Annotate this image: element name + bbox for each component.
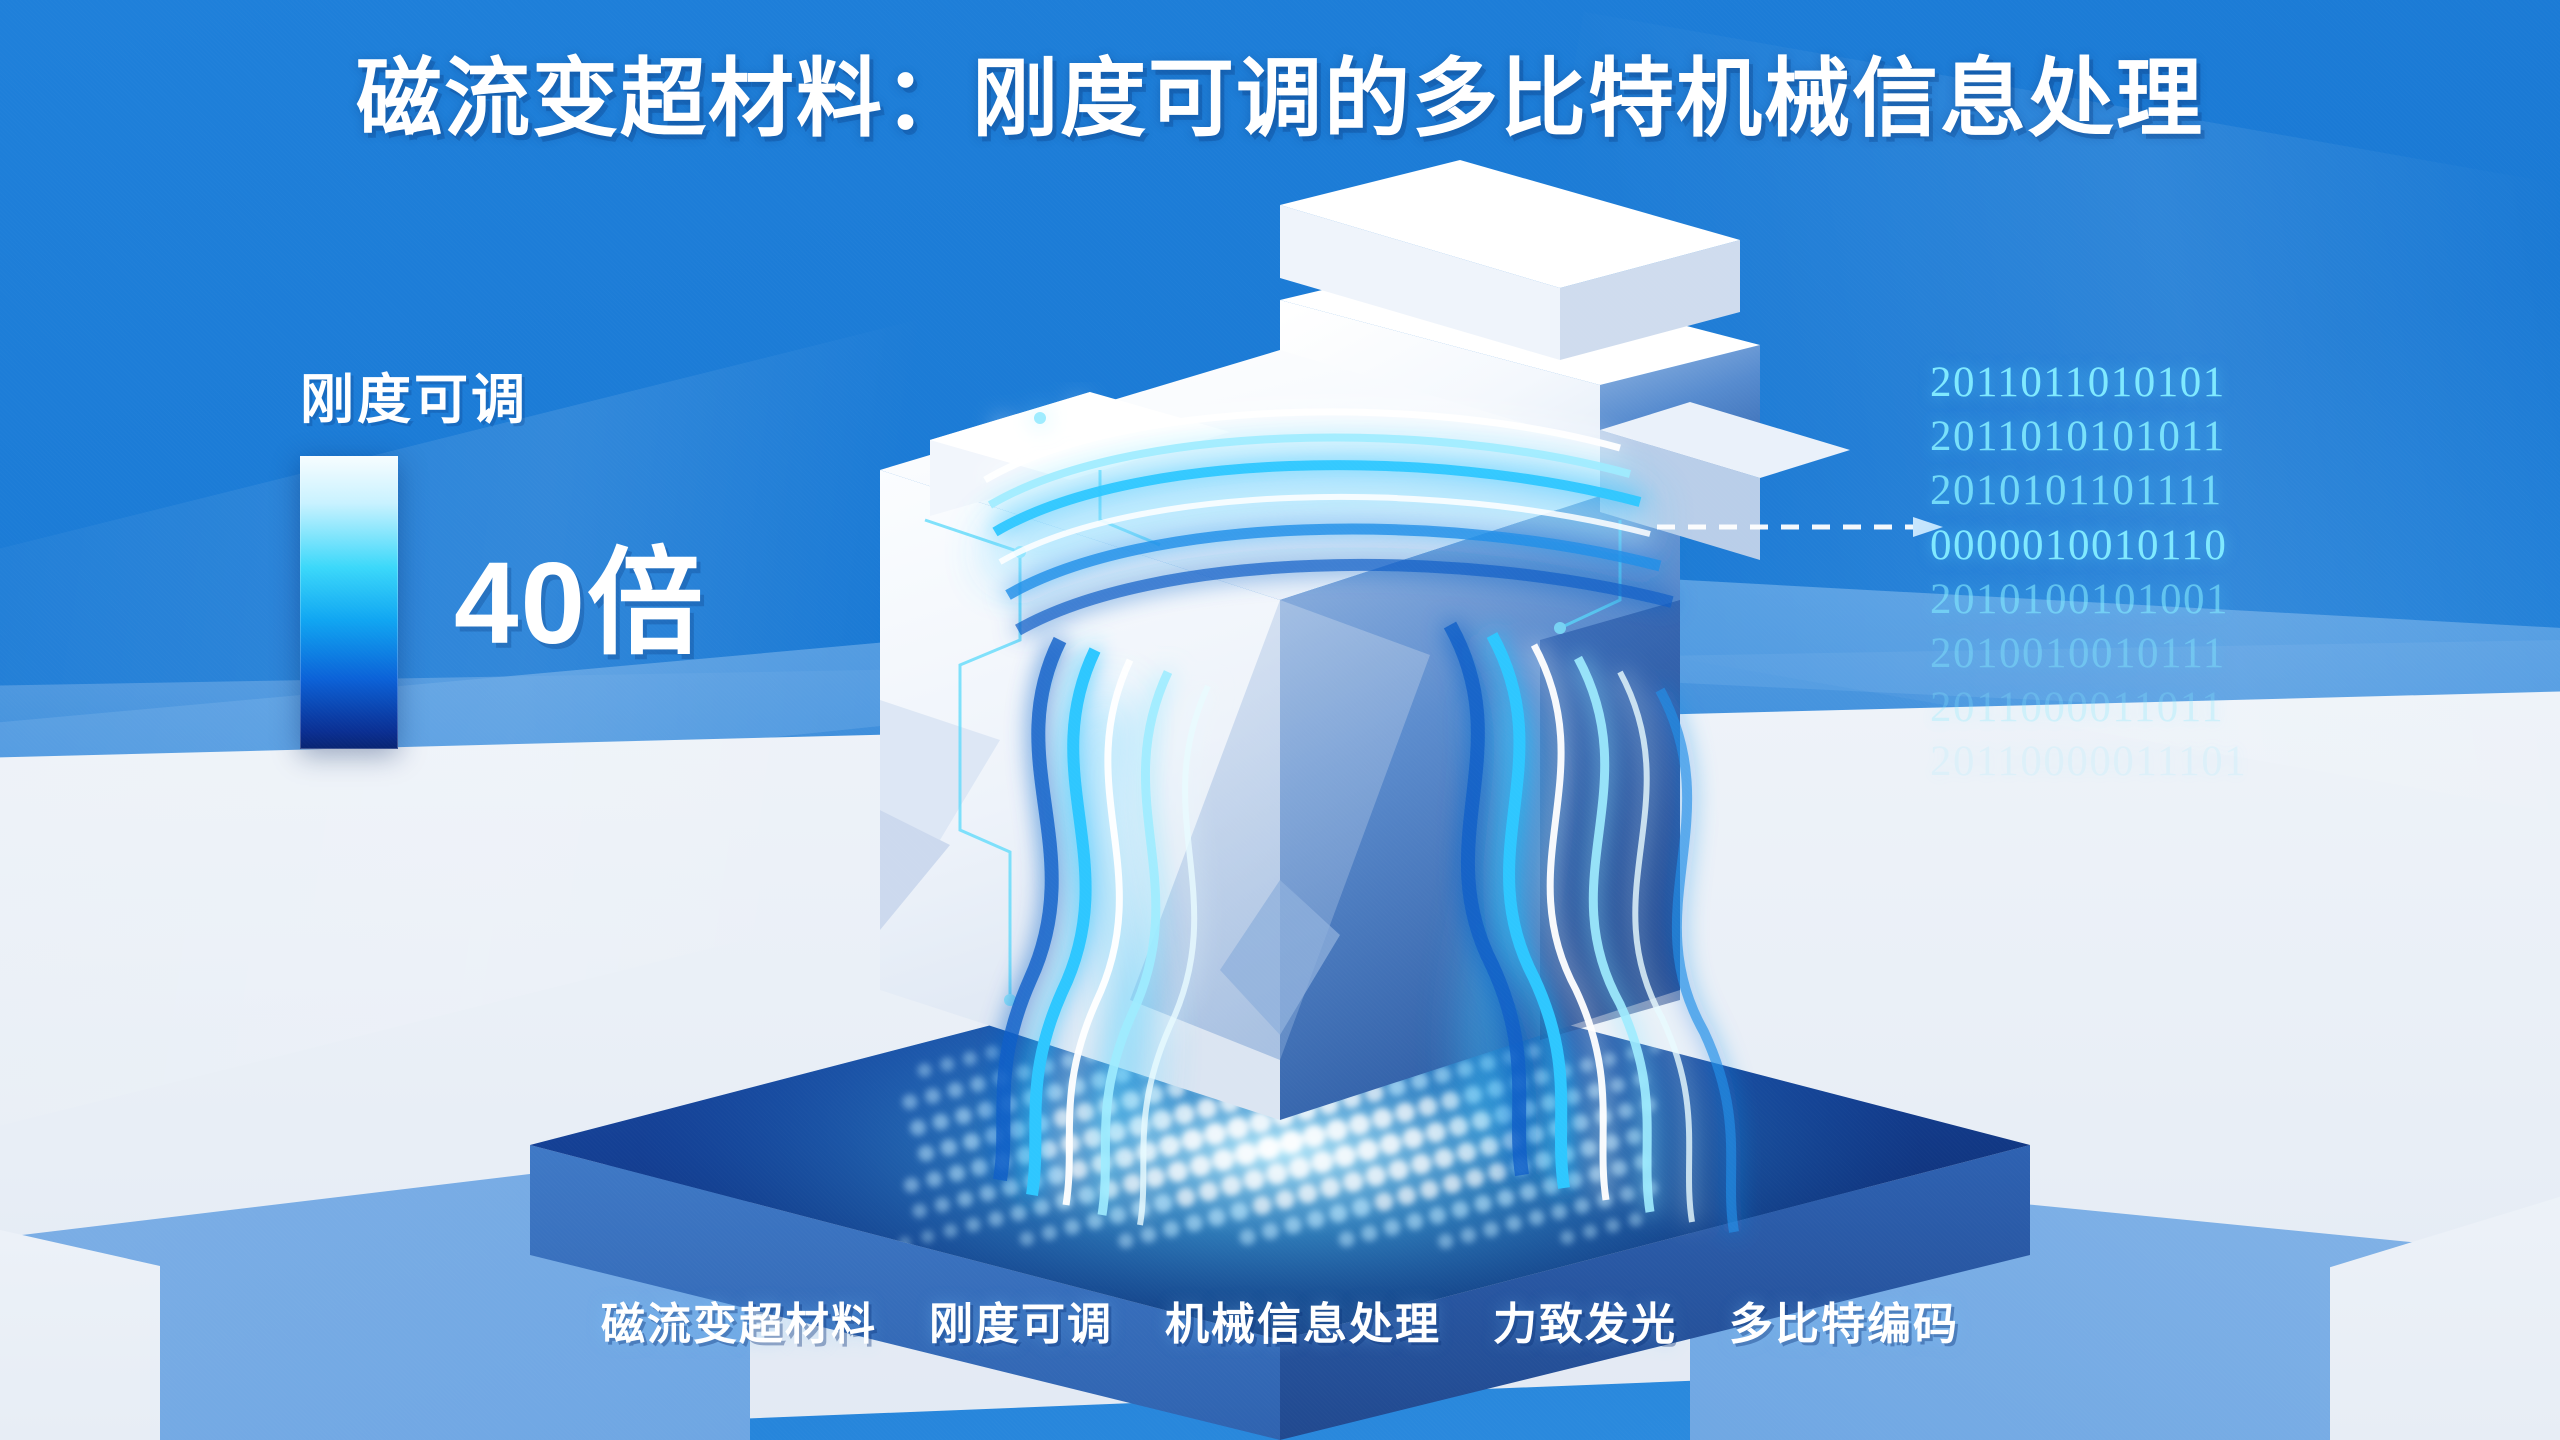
dashed-arrow-icon	[1655, 512, 1945, 542]
binary-row: 20110000011101	[1930, 735, 2247, 789]
keyword-tag: 刚度可调	[929, 1288, 1113, 1352]
binary-row: 2011000011011	[1930, 681, 2247, 735]
stiffness-stat-block: 刚度可调 40倍	[300, 355, 705, 749]
keyword-tag: 多比特编码	[1729, 1288, 1959, 1352]
keyword-tag: 力致发光	[1493, 1288, 1677, 1352]
binary-row: 2011010101011	[1930, 410, 2247, 464]
binary-row: 2010010010111	[1930, 627, 2247, 681]
binary-stream: 2011011010101201101010101120101011011110…	[1930, 356, 2247, 789]
page-title: 磁流变超材料：刚度可调的多比特机械信息处理	[0, 52, 2560, 147]
keyword-tag: 机械信息处理	[1165, 1288, 1441, 1352]
binary-row: 2010100101001	[1930, 573, 2247, 627]
keyword-tag-row: 磁流变超材料刚度可调机械信息处理力致发光多比特编码	[0, 1288, 2560, 1352]
binary-row: 2010101101111	[1930, 464, 2247, 518]
stat-label: 刚度可调	[300, 355, 705, 434]
keyword-tag: 磁流变超材料	[601, 1288, 877, 1352]
poster-stage: 磁流变超材料：刚度可调的多比特机械信息处理 刚度可调 40倍 201101101…	[0, 0, 2560, 1440]
stiffness-gradient-bar	[300, 456, 398, 749]
binary-row: 2011011010101	[1930, 356, 2247, 410]
stat-row: 40倍	[300, 456, 705, 749]
stat-value: 40倍	[454, 545, 705, 661]
binary-row: 0000010010110	[1930, 519, 2247, 573]
